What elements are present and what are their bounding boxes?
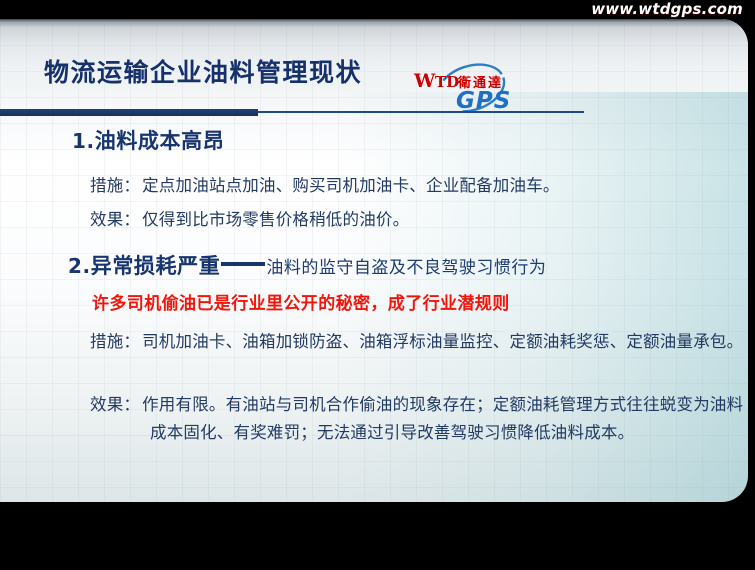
em-dash-rule bbox=[221, 262, 265, 266]
section-2-highlight: 许多司机偷油已是行业里公开的秘密，成了行业潜规则 bbox=[92, 291, 510, 317]
section-1-heading: 1.油料成本高昂 bbox=[72, 126, 224, 156]
section-2-effect: 效果：作用有限。有油站与司机合作偷油的现象存在；定额油耗管理方式往往蜕变为油料成… bbox=[90, 391, 748, 447]
svg-text:W: W bbox=[413, 70, 436, 92]
wtd-gps-logo: W TD 衛通達 GPS bbox=[408, 63, 558, 113]
section-2-number: 2. bbox=[68, 254, 91, 278]
section-1-effect-label: 效果： bbox=[90, 210, 140, 229]
page-title: 物流运输企业油料管理现状 bbox=[44, 58, 362, 88]
slide-panel: 物流运输企业油料管理现状 W TD 衛通達 GPS 1.油料成本高昂 bbox=[0, 19, 748, 502]
section-1-effect-text: 仅得到比市场零售价格稍低的油价。 bbox=[142, 210, 409, 229]
website-url-text: www.wtdgps.com bbox=[591, 1, 743, 18]
section-1-effect: 效果：仅得到比市场零售价格稍低的油价。 bbox=[90, 206, 409, 234]
section-1-measure: 措施：定点加油站点加油、购买司机加油卡、企业配备加油车。 bbox=[90, 172, 560, 200]
header-divider-thin bbox=[258, 111, 584, 113]
svg-text:GPS: GPS bbox=[456, 88, 511, 113]
section-2-subtitle: 油料的监守自盗及不良驾驶习惯行为 bbox=[266, 258, 546, 278]
section-2-title: 异常损耗严重 bbox=[91, 253, 221, 278]
section-1-number: 1. bbox=[72, 129, 95, 153]
slide-root: www.wtdgps.com 物流运输企业油料管理现状 W TD 衛通達 GPS bbox=[0, 0, 755, 570]
section-2-effect-label: 效果： bbox=[90, 395, 140, 414]
section-2-heading: 2.异常损耗严重油料的监守自盗及不良驾驶习惯行为 bbox=[68, 251, 546, 283]
section-1-title: 油料成本高昂 bbox=[95, 128, 225, 153]
section-1-measure-label: 措施： bbox=[90, 176, 140, 195]
section-1-measure-text: 定点加油站点加油、购买司机加油卡、企业配备加油车。 bbox=[142, 176, 560, 195]
section-2-measure: 措施：司机加油卡、油箱加锁防盗、油箱浮标油量监控、定额油耗奖惩、定额油量承包。 bbox=[90, 328, 748, 356]
header-divider-thick bbox=[0, 109, 258, 116]
top-black-band: www.wtdgps.com bbox=[0, 0, 755, 19]
section-2-measure-text: 司机加油卡、油箱加锁防盗、油箱浮标油量监控、定额油耗奖惩、定额油量承包。 bbox=[142, 332, 743, 351]
section-2-effect-text: 作用有限。有油站与司机合作偷油的现象存在；定额油耗管理方式往往蜕变为油料成本固化… bbox=[142, 395, 743, 442]
section-2-measure-label: 措施： bbox=[90, 332, 140, 351]
